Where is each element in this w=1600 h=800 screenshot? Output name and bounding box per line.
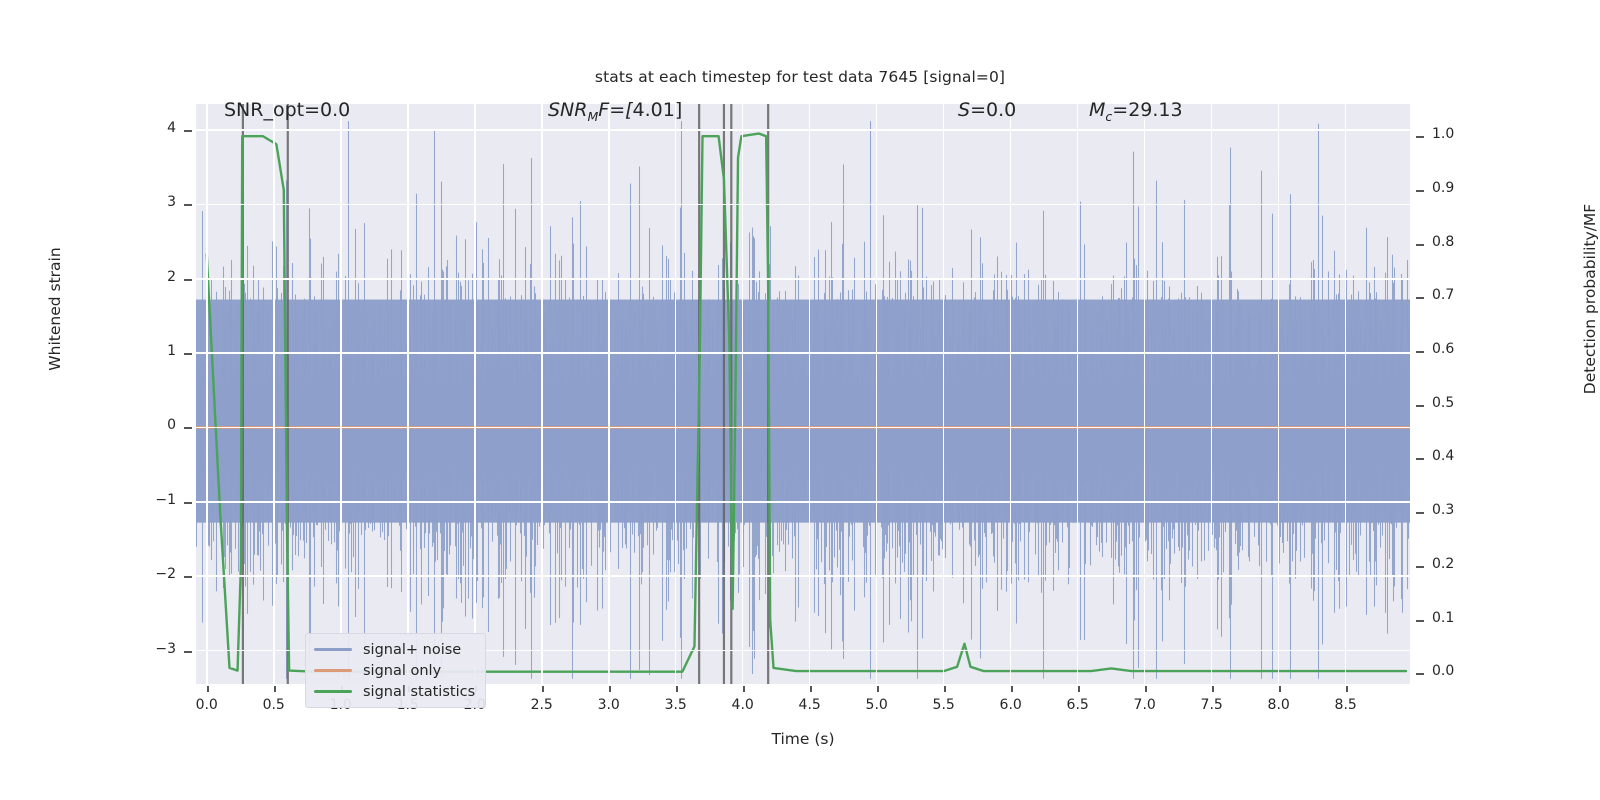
grid-line-vertical [675, 104, 677, 684]
grid-line-horizontal [196, 129, 1410, 131]
y-tick-label-left: −3 [104, 641, 176, 657]
x-tick-label: 6.0 [976, 697, 1046, 713]
y-tick-label-left: 4 [104, 120, 176, 136]
x-tick [810, 686, 812, 692]
x-tick-label: 6.5 [1043, 697, 1113, 713]
grid-line-horizontal [196, 204, 1410, 206]
y-tick-label-left: 3 [104, 194, 176, 210]
y-tick-left [184, 651, 192, 653]
y-tick-label-right: 0.2 [1432, 556, 1492, 572]
legend-item-signal-only: signal only [314, 660, 475, 681]
y-tick-left [184, 279, 192, 281]
y-tick-right [1416, 297, 1424, 299]
grid-line-vertical [943, 104, 945, 684]
grid-line-vertical [1010, 104, 1012, 684]
annotation-snr-mf: SNRMF=[4.01] [548, 99, 682, 124]
grid-line-vertical [474, 104, 476, 684]
y-tick-label-left: 2 [104, 269, 176, 285]
x-tick [542, 686, 544, 692]
grid-line-vertical [1144, 104, 1146, 684]
grid-line-vertical [876, 104, 878, 684]
grid-line-horizontal [196, 501, 1410, 503]
x-tick [1212, 686, 1214, 692]
x-tick-label: 4.5 [775, 697, 845, 713]
x-tick [676, 686, 678, 692]
noise-core-band [196, 300, 1410, 523]
figure-title: stats at each timestep for test data 764… [0, 68, 1600, 86]
grid-line-vertical [407, 104, 409, 684]
y-tick-label-left: −2 [104, 566, 176, 582]
y-tick-right [1416, 351, 1424, 353]
y-tick-right [1416, 136, 1424, 138]
x-tick [207, 686, 209, 692]
grid-line-vertical [206, 104, 208, 684]
grid-line-vertical [340, 104, 342, 684]
y-tick-label-right: 0.4 [1432, 448, 1492, 464]
grid-line-vertical [541, 104, 543, 684]
y-tick-label-right: 0.5 [1432, 395, 1492, 411]
x-tick-label: 2.5 [507, 697, 577, 713]
x-tick [1011, 686, 1013, 692]
x-tick [877, 686, 879, 692]
grid-line-horizontal [196, 575, 1410, 577]
figure-canvas: stats at each timestep for test data 764… [0, 0, 1600, 800]
x-tick [1279, 686, 1281, 692]
y-axis-label-right: Detection probability/MF [1581, 149, 1599, 449]
y-tick-label-left: 1 [104, 343, 176, 359]
x-tick [1346, 686, 1348, 692]
legend: signal+ noise signal only signal statist… [305, 633, 486, 708]
y-tick-left [184, 576, 192, 578]
grid-line-vertical [608, 104, 610, 684]
grid-line-vertical [1345, 104, 1347, 684]
y-axis-label-left: Whitened strain [46, 199, 64, 419]
y-tick-label-right: 0.8 [1432, 234, 1492, 250]
legend-swatch-signal-statistics [314, 690, 352, 692]
y-tick-right [1416, 512, 1424, 514]
x-tick-label: 8.5 [1311, 697, 1381, 713]
annotation-chirp-mass: Mc=29.13 [1089, 99, 1183, 124]
annotation-snr-opt: SNR_opt=0.0 [224, 99, 350, 121]
grid-line-vertical [273, 104, 275, 684]
y-tick-left [184, 427, 192, 429]
x-tick [743, 686, 745, 692]
x-tick [1145, 686, 1147, 692]
y-tick-label-right: 0.1 [1432, 610, 1492, 626]
y-tick-label-right: 0.0 [1432, 663, 1492, 679]
y-tick-right [1416, 405, 1424, 407]
y-tick-label-right: 0.9 [1432, 180, 1492, 196]
annotation-s-statistic: S=0.0 [958, 99, 1016, 121]
legend-label-signal-plus-noise: signal+ noise [363, 642, 461, 658]
y-tick-label-right: 1.0 [1432, 126, 1492, 142]
y-tick-label-right: 0.6 [1432, 341, 1492, 357]
x-tick [274, 686, 276, 692]
grid-line-horizontal [196, 427, 1410, 429]
y-tick-right [1416, 566, 1424, 568]
x-tick-label: 0.5 [239, 697, 309, 713]
grid-line-vertical [1077, 104, 1079, 684]
y-tick-right [1416, 190, 1424, 192]
x-tick-label: 3.0 [574, 697, 644, 713]
legend-label-signal-statistics: signal statistics [363, 684, 475, 700]
grid-line-vertical [809, 104, 811, 684]
grid-line-vertical [742, 104, 744, 684]
plot-area [196, 104, 1410, 684]
y-tick-left [184, 204, 192, 206]
y-tick-label-right: 0.3 [1432, 502, 1492, 518]
x-tick-label: 4.0 [708, 697, 778, 713]
grid-line-vertical [1211, 104, 1213, 684]
y-tick-label-left: 0 [104, 417, 176, 433]
x-axis-label: Time (s) [196, 730, 1410, 748]
y-tick-left [184, 130, 192, 132]
legend-item-signal-plus-noise: signal+ noise [314, 639, 475, 660]
y-tick-right [1416, 458, 1424, 460]
x-tick [1078, 686, 1080, 692]
x-tick-label: 8.0 [1244, 697, 1314, 713]
y-tick-label-right: 0.7 [1432, 287, 1492, 303]
x-tick-label: 5.5 [909, 697, 979, 713]
y-tick-left [184, 502, 192, 504]
y-tick-right [1416, 620, 1424, 622]
legend-label-signal-only: signal only [363, 663, 441, 679]
legend-item-signal-statistics: signal statistics [314, 681, 475, 702]
y-tick-right [1416, 673, 1424, 675]
grid-line-vertical [1278, 104, 1280, 684]
legend-swatch-signal-plus-noise [314, 648, 352, 650]
legend-swatch-signal-only [314, 669, 352, 671]
y-tick-left [184, 353, 192, 355]
x-tick-label: 7.0 [1110, 697, 1180, 713]
x-tick [609, 686, 611, 692]
y-tick-right [1416, 244, 1424, 246]
x-tick [944, 686, 946, 692]
grid-line-horizontal [196, 278, 1410, 280]
plot-curves [196, 104, 1410, 684]
x-tick-label: 7.5 [1177, 697, 1247, 713]
y-tick-label-left: −1 [104, 492, 176, 508]
x-tick-label: 0.0 [172, 697, 242, 713]
x-tick-label: 3.5 [641, 697, 711, 713]
grid-line-horizontal [196, 352, 1410, 354]
x-tick-label: 5.0 [842, 697, 912, 713]
